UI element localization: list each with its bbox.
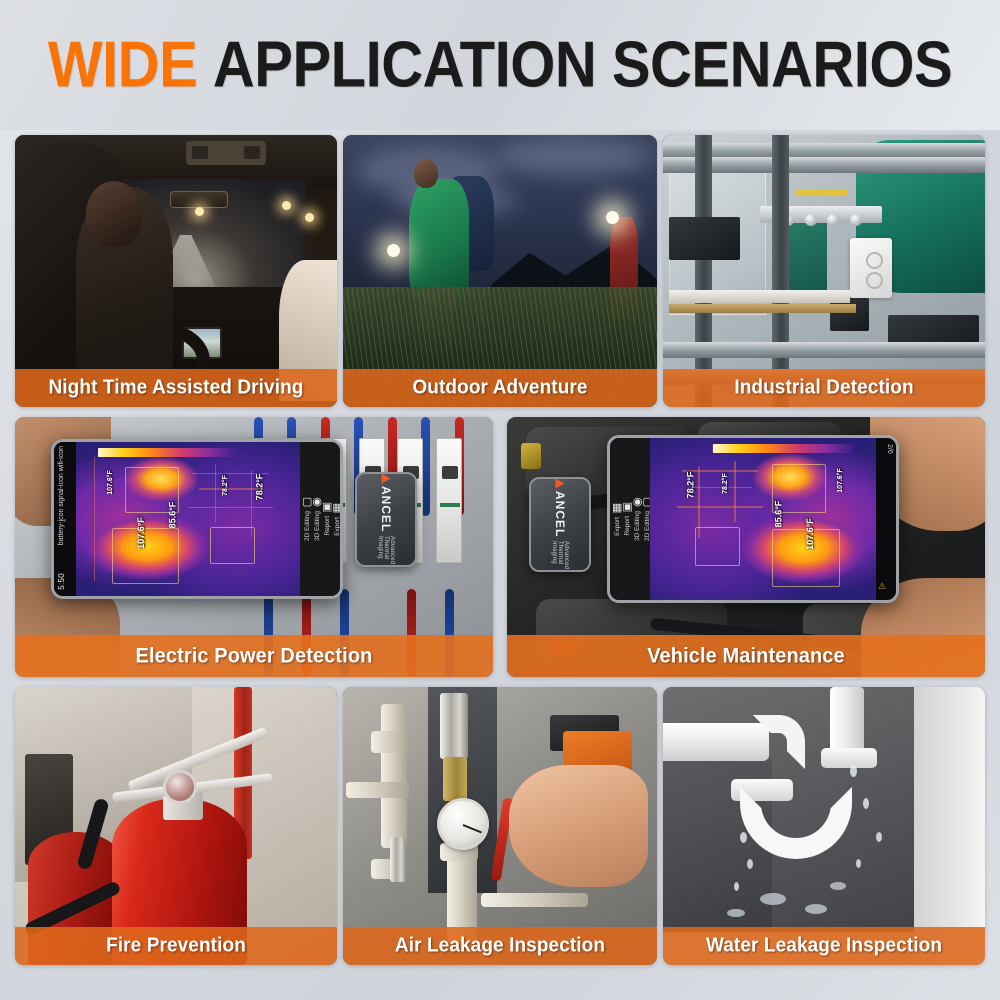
knob <box>827 214 839 226</box>
temperature-reading: 107.6°F <box>107 470 114 495</box>
thermal-image-view[interactable]: 107.6°F 107.6°F 85.6°F 78.2°F 78.2°F <box>76 442 300 596</box>
water-drop <box>740 832 747 843</box>
support-column <box>695 135 712 407</box>
photo-outdoor-adventure <box>343 135 657 407</box>
caption-bar: Air Leakage Inspection <box>343 927 657 965</box>
white-pipe-vertical <box>381 704 407 849</box>
base-rail <box>663 342 985 358</box>
sidebar-item-report[interactable]: ▣ Report <box>622 502 632 536</box>
brand-text: ANCEL <box>379 486 393 532</box>
water-drop <box>850 765 857 777</box>
sidebar-item-label: 3D Editing <box>314 511 321 541</box>
ancel-brand-label: ANCEL <box>379 474 393 532</box>
temperature-reading: 78.2°F <box>255 474 265 501</box>
cloud <box>494 138 651 176</box>
page-indicator: 2/6 <box>886 444 893 454</box>
water-splash <box>805 904 827 914</box>
temperature-scale-bar <box>98 448 237 457</box>
page-title: WIDE APPLICATION SCENARIOS <box>48 33 952 98</box>
brand-text: ANCEL <box>553 491 567 537</box>
title-accent-word: WIDE <box>48 28 197 101</box>
support-column <box>772 135 789 407</box>
white-pipe-horizontal <box>346 782 409 798</box>
photo-night-driving <box>15 135 337 407</box>
driver-head <box>86 181 142 247</box>
yellow-indicator-bar <box>795 189 847 196</box>
caption-label: Outdoor Adventure <box>412 376 587 399</box>
pressure-gauge <box>163 770 197 804</box>
caption-label: Night Time Assisted Driving <box>48 376 303 399</box>
pcb-trace <box>251 470 253 538</box>
side-wall <box>914 687 985 965</box>
caption-label: Vehicle Maintenance <box>647 644 845 668</box>
ancel-brand-label: ANCEL <box>553 479 567 537</box>
temperature-scale-bar <box>713 444 853 453</box>
ancel-device-labels: ANCEL Advanced Thermal Imaging <box>551 479 569 570</box>
ancel-tagline: Advanced Thermal Imaging <box>551 541 569 570</box>
photo-water-leakage <box>663 687 985 965</box>
hiker-head <box>414 159 438 188</box>
pcb-chip <box>210 527 255 564</box>
photo-fire-extinguisher <box>15 687 337 965</box>
pcb-trace <box>734 461 736 523</box>
headlamp-icon <box>387 244 400 257</box>
phone-right-bar: 2/6 ⚠ <box>876 438 896 600</box>
sidebar-item-export[interactable]: ▦ Export <box>612 503 622 536</box>
pcb-trace <box>199 488 262 490</box>
thermal-phone-left[interactable]: battery-icon signal-icon wifi-icon 5:50 <box>51 439 343 599</box>
title-rest-text: APPLICATION SCENARIOS <box>213 28 952 101</box>
chrome-nipple <box>390 837 406 881</box>
status-icons: battery-icon signal-icon wifi-icon <box>57 446 68 545</box>
water-drop <box>876 832 882 842</box>
scenario-card-air-leakage[interactable]: Air Leakage Inspection <box>343 687 657 965</box>
white-pipe-horizontal <box>481 893 588 907</box>
ancel-tagline: Advanced Thermal Imaging <box>377 536 395 565</box>
water-drop <box>863 798 869 809</box>
scenario-card-outdoor-adventure[interactable]: Outdoor Adventure <box>343 135 657 407</box>
sidebar-item-label: 3D Editing <box>634 511 641 541</box>
scenario-card-water-leakage[interactable]: Water Leakage Inspection <box>663 687 985 965</box>
scenario-row-3: Fire Prevention <box>15 687 985 965</box>
scenario-row-2: battery-icon signal-icon wifi-icon 5:50 <box>15 417 985 677</box>
sidebar-item-label: Export <box>334 517 341 536</box>
sidebar-item-label: Report <box>324 516 331 536</box>
sidebar-item-3d-editing[interactable]: ◉ 3D Editing <box>312 497 322 541</box>
phone-tool-sidebar[interactable]: ▢ 2D Editing ◉ 3D Editing ▣ Report ▦ Exp… <box>610 438 650 600</box>
alert-icon: ⚠ <box>874 582 892 592</box>
3d-edit-icon: ◉ <box>633 497 643 508</box>
rearview-mirror <box>170 191 228 208</box>
caption-label: Electric Power Detection <box>136 644 373 668</box>
water-drop <box>747 859 753 869</box>
pipe-collar <box>371 731 409 753</box>
temperature-reading: 78.2°F <box>722 473 729 494</box>
triangle-logo-icon <box>382 474 391 484</box>
sidebar-item-label: Export <box>614 517 621 536</box>
hiker-body <box>409 179 469 301</box>
title-rest-word <box>197 28 213 101</box>
report-icon: ▣ <box>622 502 632 513</box>
caption-bar: Night Time Assisted Driving <box>15 369 337 407</box>
pcb-trace <box>188 507 273 509</box>
2d-edit-icon: ▢ <box>302 497 312 508</box>
thermal-phone-right[interactable]: ▢ 2D Editing ◉ 3D Editing ▣ Report ▦ Exp… <box>607 435 899 603</box>
gauge-needle <box>463 824 482 833</box>
phone-status-bar: battery-icon signal-icon wifi-icon 5:50 <box>54 442 76 596</box>
phone-tool-sidebar[interactable]: ▦ Export ▣ Report ◉ 3D Editing ▢ 2D Edit… <box>300 442 340 596</box>
sidebar-item-label: 2D Editing <box>304 511 311 541</box>
temperature-reading: 107.6°F <box>838 468 845 493</box>
temperature-reading: 78.2°F <box>222 475 229 496</box>
caption-bar: Fire Prevention <box>15 927 337 965</box>
caption-bar: Industrial Detection <box>663 369 985 407</box>
sidebar-item-3d-editing[interactable]: ◉ 3D Editing <box>633 497 643 541</box>
caption-label: Water Leakage Inspection <box>706 934 942 957</box>
triangle-logo-icon <box>556 479 565 489</box>
pcb-trace <box>698 467 700 538</box>
caption-label: Fire Prevention <box>106 934 246 957</box>
sidebar-item-label: Report <box>624 516 631 536</box>
ancel-thermal-device[interactable]: ANCEL Advanced Thermal Imaging <box>355 472 417 567</box>
scenario-row-1: Night Time Assisted Driving Out <box>15 135 985 407</box>
pcb-trace <box>94 457 96 580</box>
sidebar-item-report[interactable]: ▣ Report <box>322 502 332 536</box>
yellow-cap <box>521 443 541 469</box>
export-icon: ▦ <box>332 503 342 514</box>
chrome-cylinder <box>440 693 468 760</box>
pcb-trace <box>677 506 763 508</box>
scenario-card-vehicle-maintenance[interactable]: ▢ 2D Editing ◉ 3D Editing ▣ Report ▦ Exp… <box>507 417 985 677</box>
pcb-trace <box>215 464 217 523</box>
temperature-reading: 85.6°F <box>774 501 784 528</box>
scenario-card-fire-prevention[interactable]: Fire Prevention <box>15 687 337 965</box>
temperature-reading: 107.6°F <box>805 518 815 550</box>
ancel-thermal-device[interactable]: ANCEL Advanced Thermal Imaging <box>529 477 591 572</box>
3d-edit-icon: ◉ <box>312 497 322 508</box>
status-time: 5:50 <box>57 573 66 590</box>
white-control-box <box>850 238 892 298</box>
knob <box>805 214 817 226</box>
technician-hand <box>509 765 647 887</box>
street-lamp-icon <box>305 213 314 222</box>
circuit-breaker <box>436 438 462 563</box>
brass-fitting <box>443 757 467 801</box>
pressure-gauge <box>437 798 489 850</box>
temperature-reading: 78.2°F <box>686 472 696 499</box>
water-splash <box>830 882 846 890</box>
photo-industrial-detection <box>663 135 985 407</box>
thermal-image-view[interactable]: 107.6°F 107.6°F 85.6°F 78.2°F 78.2°F <box>650 438 876 600</box>
photo-air-leakage <box>343 687 657 965</box>
pcb-chip <box>695 527 740 566</box>
scenarios-grid: Night Time Assisted Driving Out <box>0 130 1000 1000</box>
knob <box>850 214 862 226</box>
water-splash <box>760 893 786 905</box>
sidebar-item-2d-editing[interactable]: ▢ 2D Editing <box>302 497 312 541</box>
report-icon: ▣ <box>322 502 332 513</box>
caption-bar: Water Leakage Inspection <box>663 927 985 965</box>
caption-bar: Vehicle Maintenance <box>507 635 985 677</box>
camera-dot-icon <box>63 519 66 522</box>
caption-bar: Outdoor Adventure <box>343 369 657 407</box>
page-header: WIDE APPLICATION SCENARIOS <box>0 0 1000 130</box>
caption-label: Air Leakage Inspection <box>395 934 605 957</box>
sidebar-item-export[interactable]: ▦ Export <box>332 503 342 536</box>
conveyor-belt <box>669 290 849 303</box>
temperature-reading: 85.6°F <box>167 501 177 528</box>
scenario-card-electric-power-detection[interactable]: battery-icon signal-icon wifi-icon 5:50 <box>15 417 493 677</box>
scenario-card-industrial-detection[interactable]: Industrial Detection <box>663 135 985 407</box>
scenario-card-night-driving[interactable]: Night Time Assisted Driving <box>15 135 337 407</box>
water-drop <box>734 882 739 891</box>
export-icon: ▦ <box>612 503 622 514</box>
conveyor-wood-board <box>669 304 856 313</box>
temperature-reading: 107.6°F <box>136 517 146 549</box>
dark-module <box>669 217 740 261</box>
caption-label: Industrial Detection <box>734 376 913 399</box>
dome-light-icon <box>186 141 266 165</box>
ancel-device-labels: ANCEL Advanced Thermal Imaging <box>377 474 395 565</box>
pipe-elbow <box>753 715 805 769</box>
pipe-collar <box>821 748 877 768</box>
caption-bar: Electric Power Detection <box>15 635 493 677</box>
